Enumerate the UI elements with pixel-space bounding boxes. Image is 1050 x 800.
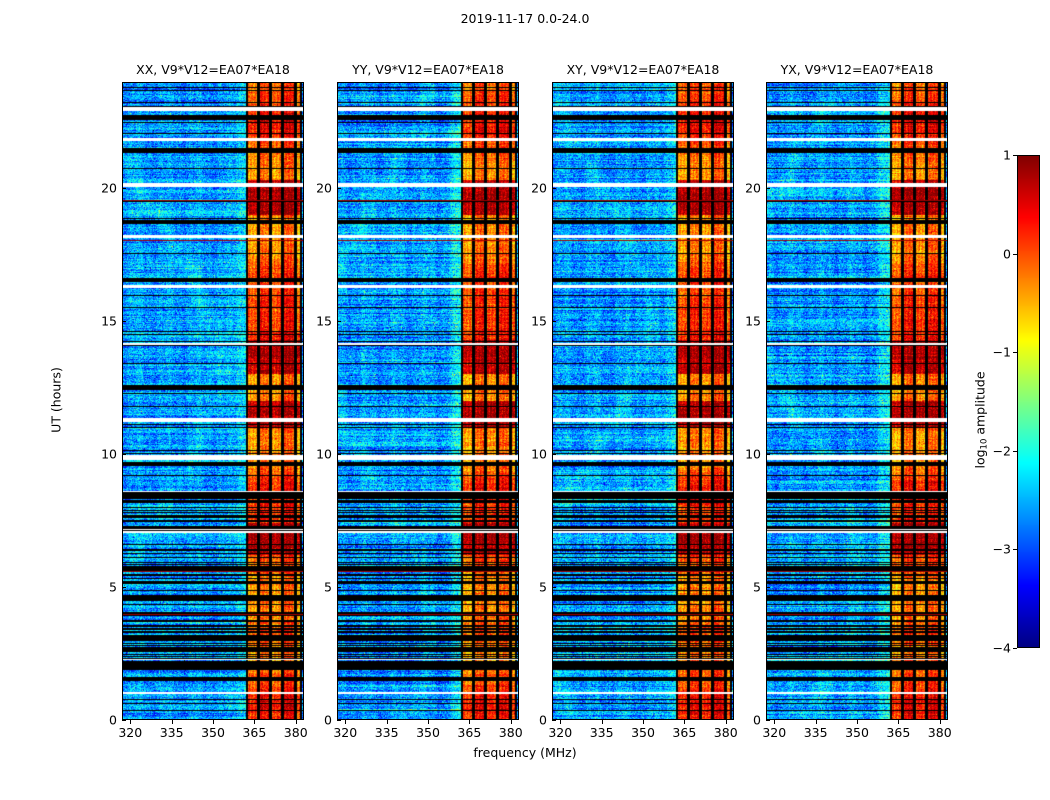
y-tick-mark	[337, 321, 341, 322]
y-tick-mark	[766, 587, 770, 588]
x-tick-label: 365	[242, 725, 266, 740]
x-tick-mark	[898, 720, 899, 724]
colorbar-tick-mark	[1013, 648, 1017, 649]
colorbar-tick-mark	[1013, 254, 1017, 255]
panel-xx: XX, V9*V12=EA07*EA1805101520320335350365…	[122, 82, 304, 720]
x-tick-row: 320335350365380	[552, 720, 734, 746]
y-tick-label: 0	[109, 713, 117, 728]
figure-canvas: 2019-11-17 0.0-24.0 UT (hours) frequency…	[0, 0, 1050, 800]
panel-xy: XY, V9*V12=EA07*EA1805101520320335350365…	[552, 82, 734, 720]
y-tick-mark	[766, 188, 770, 189]
y-tick-mark	[552, 321, 556, 322]
y-tick-label: 5	[753, 580, 761, 595]
x-tick-label: 335	[160, 725, 184, 740]
colorbar-tick-mark	[1013, 451, 1017, 452]
colorbar-tick-mark	[1013, 155, 1017, 156]
x-tick-mark	[560, 720, 561, 724]
y-tick-mark	[122, 321, 126, 322]
figure-suptitle: 2019-11-17 0.0-24.0	[0, 11, 1050, 26]
x-tick-mark	[172, 720, 173, 724]
x-tick-mark	[726, 720, 727, 724]
y-tick-label: 5	[324, 580, 332, 595]
x-tick-mark	[213, 720, 214, 724]
colorbar-tick-label: −3	[993, 542, 1011, 557]
x-axis-label: frequency (MHz)	[0, 745, 1050, 760]
y-tick-mark	[552, 454, 556, 455]
colorbar-tick-mark	[1013, 549, 1017, 550]
y-tick-label: 5	[539, 580, 547, 595]
y-tick-mark	[337, 587, 341, 588]
colorbar-tick-label: 1	[1003, 148, 1011, 163]
colorbar-label-prefix: log	[973, 449, 988, 468]
x-tick-label: 365	[672, 725, 696, 740]
y-tick-label: 10	[531, 447, 547, 462]
y-tick-mark	[337, 454, 341, 455]
x-tick-label: 350	[631, 725, 655, 740]
x-tick-label: 380	[928, 725, 952, 740]
x-tick-mark	[602, 720, 603, 724]
panel-title-xy: XY, V9*V12=EA07*EA18	[552, 62, 734, 82]
x-tick-mark	[857, 720, 858, 724]
x-tick-row: 320335350365380	[337, 720, 519, 746]
y-tick-label: 0	[753, 713, 761, 728]
y-tick-label: 15	[745, 314, 761, 329]
y-tick-label: 0	[539, 713, 547, 728]
y-tick-mark	[122, 587, 126, 588]
y-tick-label: 0	[324, 713, 332, 728]
colorbar: −4−3−2−101	[1017, 155, 1040, 648]
colorbar-label-subscript: 10	[980, 439, 990, 450]
waterfall-image-yx	[766, 82, 948, 720]
y-tick-mark	[552, 587, 556, 588]
waterfall-image-xy	[552, 82, 734, 720]
x-tick-label: 380	[284, 725, 308, 740]
x-tick-row: 320335350365380	[122, 720, 304, 746]
y-tick-label: 20	[745, 181, 761, 196]
colorbar-label-suffix: amplitude	[973, 371, 988, 438]
x-tick-label: 335	[590, 725, 614, 740]
x-tick-label: 350	[201, 725, 225, 740]
x-tick-mark	[511, 720, 512, 724]
panel-title-yx: YX, V9*V12=EA07*EA18	[766, 62, 948, 82]
colorbar-tick-label: −2	[993, 443, 1011, 458]
y-tick-mark	[552, 188, 556, 189]
x-tick-mark	[296, 720, 297, 724]
y-tick-mark	[337, 188, 341, 189]
y-tick-label: 10	[316, 447, 332, 462]
x-tick-label: 320	[333, 725, 357, 740]
colorbar-tick-mark	[1013, 352, 1017, 353]
x-tick-label: 320	[118, 725, 142, 740]
y-tick-label: 20	[101, 181, 117, 196]
x-tick-label: 320	[762, 725, 786, 740]
y-tick-label: 5	[109, 580, 117, 595]
y-tick-label: 15	[531, 314, 547, 329]
panel-yx: YX, V9*V12=EA07*EA1805101520320335350365…	[766, 82, 948, 720]
x-tick-label: 335	[375, 725, 399, 740]
x-tick-label: 320	[548, 725, 572, 740]
x-tick-mark	[345, 720, 346, 724]
x-tick-mark	[387, 720, 388, 724]
x-tick-mark	[774, 720, 775, 724]
x-tick-label: 365	[457, 725, 481, 740]
x-tick-mark	[130, 720, 131, 724]
y-tick-mark	[766, 321, 770, 322]
x-tick-row: 320335350365380	[766, 720, 948, 746]
panel-yy: YY, V9*V12=EA07*EA1805101520320335350365…	[337, 82, 519, 720]
x-tick-label: 380	[499, 725, 523, 740]
colorbar-tick-label: −4	[993, 641, 1011, 656]
x-tick-mark	[643, 720, 644, 724]
x-tick-label: 335	[804, 725, 828, 740]
x-tick-label: 350	[845, 725, 869, 740]
y-tick-label: 15	[316, 314, 332, 329]
y-tick-mark	[766, 454, 770, 455]
y-tick-mark	[122, 454, 126, 455]
y-axis-label: UT (hours)	[49, 367, 64, 433]
y-tick-label: 15	[101, 314, 117, 329]
x-tick-label: 365	[886, 725, 910, 740]
colorbar-frame	[1017, 155, 1040, 648]
x-tick-mark	[428, 720, 429, 724]
x-tick-label: 350	[416, 725, 440, 740]
x-tick-mark	[684, 720, 685, 724]
y-tick-label: 20	[316, 181, 332, 196]
y-tick-label: 10	[745, 447, 761, 462]
x-tick-mark	[816, 720, 817, 724]
panel-title-xx: XX, V9*V12=EA07*EA18	[122, 62, 304, 82]
colorbar-tick-label: −1	[993, 345, 1011, 360]
x-tick-mark	[254, 720, 255, 724]
x-tick-mark	[940, 720, 941, 724]
waterfall-image-yy	[337, 82, 519, 720]
x-tick-mark	[469, 720, 470, 724]
x-tick-label: 380	[714, 725, 738, 740]
y-tick-label: 20	[531, 181, 547, 196]
waterfall-image-xx	[122, 82, 304, 720]
panel-title-yy: YY, V9*V12=EA07*EA18	[337, 62, 519, 82]
y-tick-mark	[122, 188, 126, 189]
colorbar-tick-label: 0	[1003, 246, 1011, 261]
colorbar-label: log10 amplitude	[973, 371, 988, 468]
y-tick-label: 10	[101, 447, 117, 462]
